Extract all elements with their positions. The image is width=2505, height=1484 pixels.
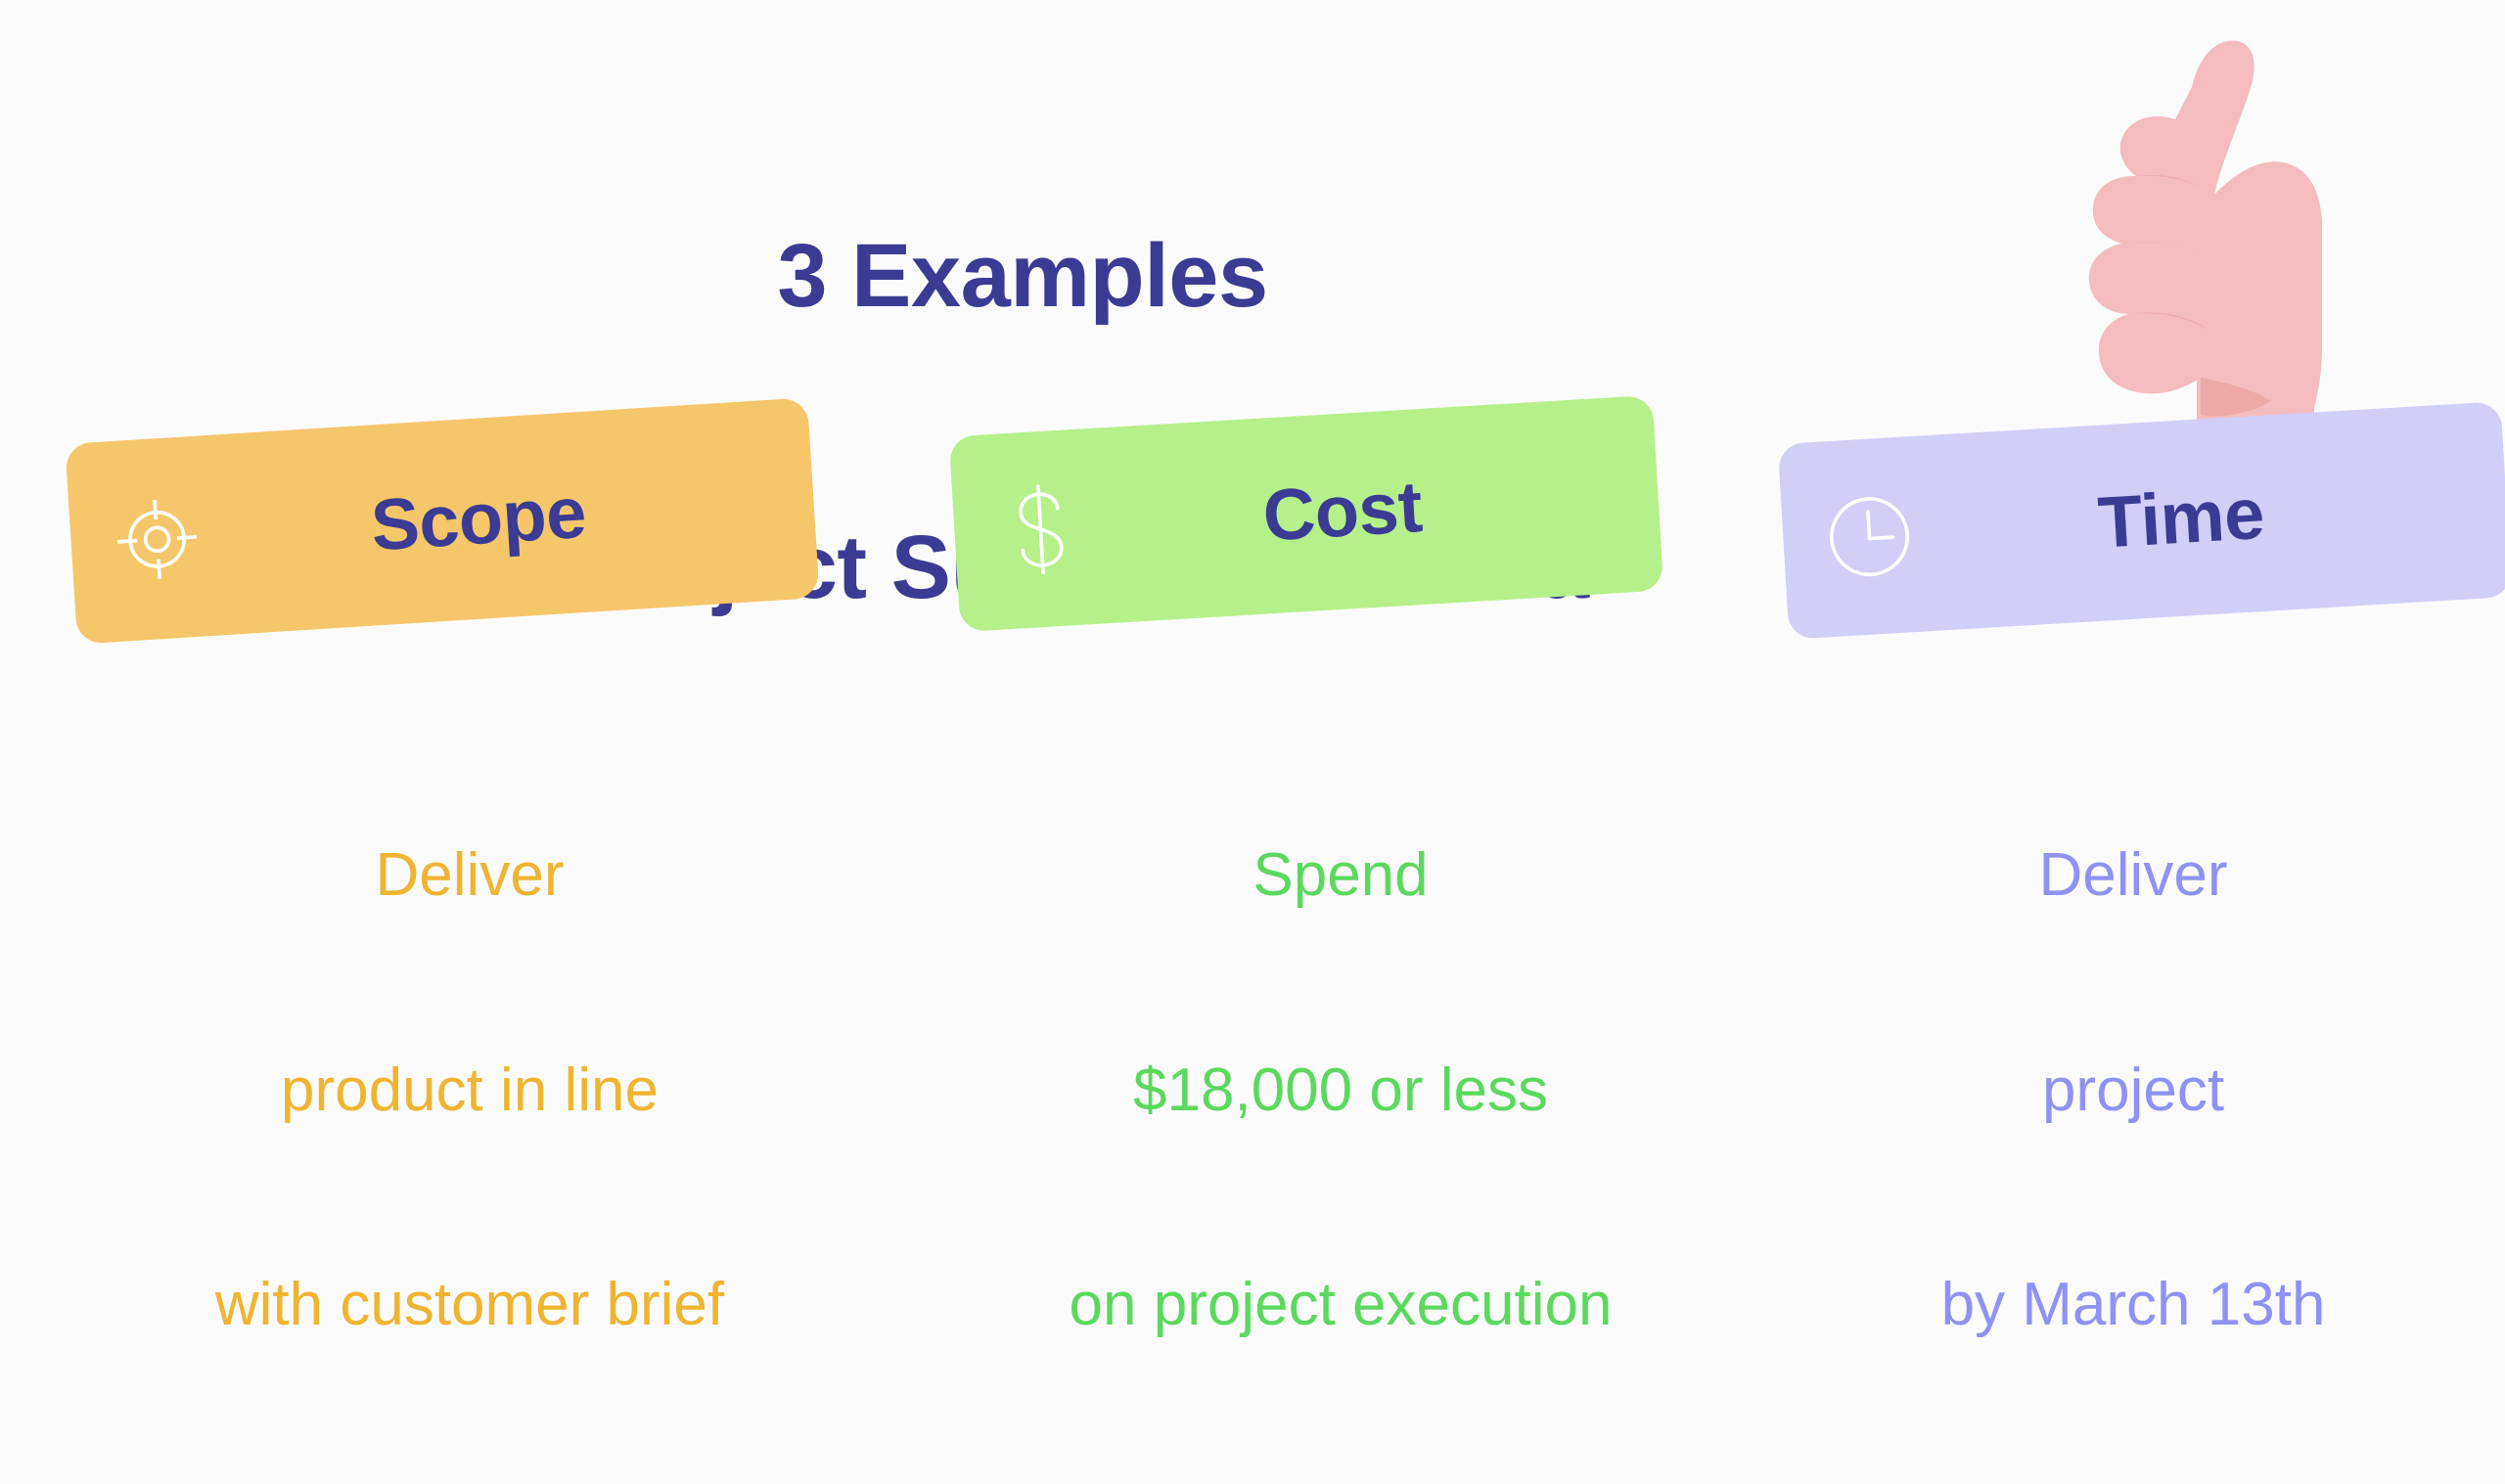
card-content-time: Time (1781, 454, 2505, 587)
target-icon (110, 491, 205, 587)
title-line-1: 3 Examples (0, 228, 2045, 325)
card-label-scope: Scope (225, 464, 777, 570)
clock-icon (1822, 489, 1917, 584)
desc-scope-line-2: product in line (20, 1055, 920, 1126)
criteria-description-cost: Spend $18,000 or less on project executi… (910, 697, 1771, 1484)
criteria-description-time: Deliver project by March 13th (1761, 697, 2505, 1484)
criteria-card-cost[interactable]: Cost (949, 395, 1664, 632)
desc-cost-line-2: $18,000 or less (910, 1055, 1771, 1126)
desc-scope-line-1: Deliver (20, 839, 920, 911)
desc-scope-line-3: with customer brief (20, 1269, 920, 1340)
desc-cost-line-1: Spend (910, 839, 1771, 911)
desc-time-line-3: by March 13th (1761, 1269, 2505, 1340)
card-label-cost: Cost (1109, 459, 1620, 562)
card-content-cost: Cost (952, 448, 1661, 580)
desc-cost-line-3: on project execution (910, 1269, 1771, 1340)
card-content-scope: Scope (68, 453, 816, 590)
desc-time-line-2: project (1761, 1055, 2505, 1126)
desc-time-line-1: Deliver (1761, 839, 2505, 911)
infographic-canvas: 3 Examples of Project Success Criteria (0, 0, 2505, 1058)
dollar-icon (993, 481, 1088, 576)
card-label-time: Time (1937, 465, 2469, 568)
criteria-description-scope: Deliver product in line with customer br… (20, 697, 920, 1484)
criteria-card-time[interactable]: Time (1778, 401, 2505, 640)
page-title: 3 Examples of Project Success Criteria (0, 33, 2045, 811)
